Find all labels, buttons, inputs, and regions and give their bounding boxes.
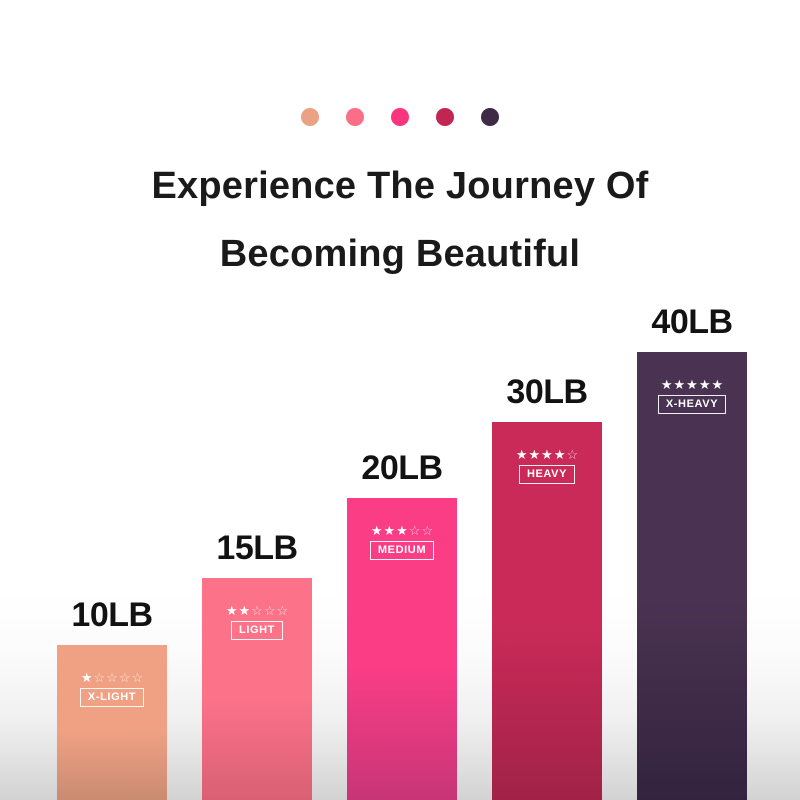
bar-group-30lb[interactable]: 30LB★★★★☆HEAVY: [492, 422, 602, 800]
bar-weight-label-15lb: 15LB: [216, 529, 297, 568]
bar-group-15lb[interactable]: 15LB★★☆☆☆LIGHT: [202, 578, 312, 800]
tier-label: X-HEAVY: [658, 395, 726, 414]
star-empty-icon: ☆: [264, 604, 276, 617]
star-filled-icon: ★: [541, 448, 553, 461]
bar-weight-label-30lb: 30LB: [506, 373, 587, 412]
star-empty-icon: ☆: [131, 671, 143, 684]
star-rating: ★☆☆☆☆: [81, 671, 143, 684]
star-empty-icon: ☆: [276, 604, 288, 617]
bar-badge-medium: ★★★☆☆MEDIUM: [359, 524, 445, 560]
star-rating: ★★☆☆☆: [226, 604, 288, 617]
tier-label: HEAVY: [519, 465, 575, 484]
bar-weight-label-20lb: 20LB: [361, 449, 442, 488]
bar-badge-heavy: ★★★★☆HEAVY: [504, 448, 590, 484]
star-filled-icon: ★: [529, 448, 541, 461]
star-empty-icon: ☆: [119, 671, 131, 684]
star-empty-icon: ☆: [421, 524, 433, 537]
resistance-band-bar-chart: 10LB★☆☆☆☆X-LIGHT15LB★★☆☆☆LIGHT20LB★★★☆☆M…: [0, 0, 800, 800]
bar-group-40lb[interactable]: 40LB★★★★★X-HEAVY: [637, 352, 747, 800]
star-filled-icon: ★: [371, 524, 383, 537]
star-filled-icon: ★: [661, 378, 673, 391]
star-filled-icon: ★: [384, 524, 396, 537]
bar-40lb[interactable]: [637, 352, 747, 800]
bar-badge-x-light: ★☆☆☆☆X-LIGHT: [69, 671, 155, 707]
tier-label: MEDIUM: [370, 541, 434, 560]
star-empty-icon: ☆: [566, 448, 578, 461]
star-filled-icon: ★: [711, 378, 723, 391]
bar-10lb[interactable]: [57, 645, 167, 800]
star-filled-icon: ★: [699, 378, 711, 391]
star-empty-icon: ☆: [251, 604, 263, 617]
star-filled-icon: ★: [81, 671, 93, 684]
star-rating: ★★★★★: [661, 378, 723, 391]
star-empty-icon: ☆: [94, 671, 106, 684]
star-filled-icon: ★: [686, 378, 698, 391]
bar-group-10lb[interactable]: 10LB★☆☆☆☆X-LIGHT: [57, 645, 167, 800]
star-filled-icon: ★: [674, 378, 686, 391]
bar-group-20lb[interactable]: 20LB★★★☆☆MEDIUM: [347, 498, 457, 800]
star-rating: ★★★☆☆: [371, 524, 433, 537]
tier-label: LIGHT: [231, 621, 283, 640]
star-empty-icon: ☆: [106, 671, 118, 684]
star-filled-icon: ★: [516, 448, 528, 461]
tier-label: X-LIGHT: [80, 688, 144, 707]
star-filled-icon: ★: [396, 524, 408, 537]
bar-badge-x-heavy: ★★★★★X-HEAVY: [649, 378, 735, 414]
bar-weight-label-10lb: 10LB: [71, 596, 152, 635]
star-rating: ★★★★☆: [516, 448, 578, 461]
star-filled-icon: ★: [226, 604, 238, 617]
bar-weight-label-40lb: 40LB: [651, 303, 732, 342]
star-filled-icon: ★: [554, 448, 566, 461]
star-empty-icon: ☆: [409, 524, 421, 537]
star-filled-icon: ★: [239, 604, 251, 617]
bar-badge-light: ★★☆☆☆LIGHT: [214, 604, 300, 640]
